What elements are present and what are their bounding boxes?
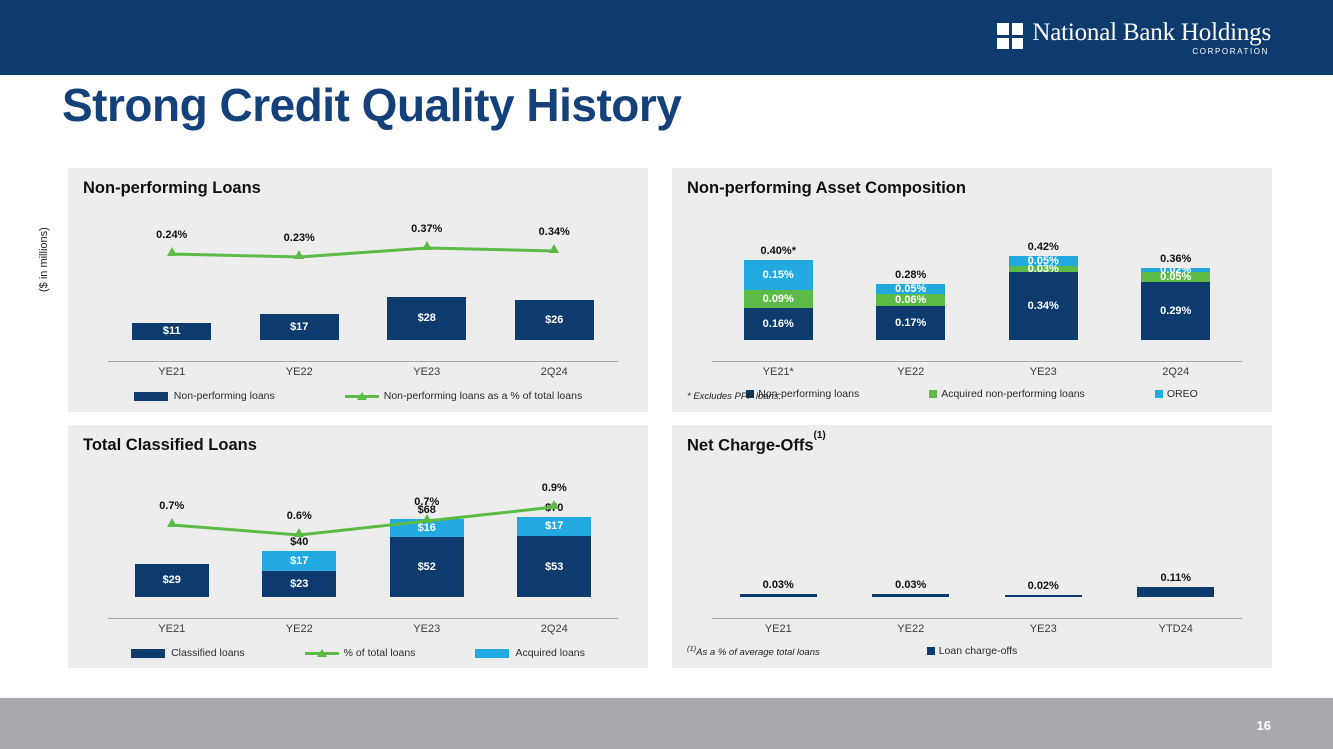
bar-group: 0.02%0.05%0.29%0.36% xyxy=(1110,210,1243,340)
category-labels: YE21YE22YE232Q24 xyxy=(108,619,618,641)
bar-segment: $26 xyxy=(515,300,594,340)
bar-segment: $23 xyxy=(262,571,336,597)
category-labels: YE21YE22YE232Q24 xyxy=(108,362,618,384)
bar-value-label: 0.15% xyxy=(763,269,794,281)
bar-group: $16$52$68 xyxy=(363,467,491,597)
bar-segment: 0.09% xyxy=(744,290,813,308)
panel-title: Net Charge-Offs(1) xyxy=(687,436,826,456)
panel-title: Non-performing Loans xyxy=(83,179,261,198)
footnote-text: As a % of average total loans xyxy=(696,647,820,658)
bar-segment xyxy=(1137,587,1214,597)
legend-label: % of total loans xyxy=(344,647,416,659)
chart-legend: Non-performing loansNon-performing loans… xyxy=(68,390,648,402)
legend-label: Classified loans xyxy=(171,647,245,659)
logo-name: National Bank Holdings xyxy=(1032,20,1271,46)
plot-area: 0.03%0.03%0.02%0.11% xyxy=(712,467,1242,619)
bar-group: $17$23$40 xyxy=(236,467,364,597)
bar-segment: $52 xyxy=(390,537,464,597)
category-label: YE23 xyxy=(977,366,1110,378)
bar-segment: $16 xyxy=(390,519,464,537)
category-label: YE21 xyxy=(108,366,236,378)
legend-label: Acquired loans xyxy=(515,647,584,659)
category-label: 2Q24 xyxy=(491,623,619,635)
page-title: Strong Credit Quality History xyxy=(62,78,681,132)
bar-value-label: $11 xyxy=(163,325,181,337)
bar-value-label: $53 xyxy=(545,561,563,573)
units-caption: ($ in millions) xyxy=(38,172,50,292)
legend-item: Classified loans xyxy=(131,647,245,659)
bar-segment: 0.34% xyxy=(1009,272,1078,340)
bar-segment: $28 xyxy=(387,297,466,340)
bar-group: 0.05%0.06%0.17%0.28% xyxy=(845,210,978,340)
category-label: 2Q24 xyxy=(491,366,619,378)
legend-item: OREO xyxy=(1155,388,1198,400)
bar-segment: $53 xyxy=(517,536,591,597)
bar-value-label: $29 xyxy=(163,574,181,586)
category-label: YTD24 xyxy=(1110,623,1243,635)
footnote-superscript: (1) xyxy=(687,644,696,653)
bar-group: 0.03% xyxy=(712,467,845,597)
four-square-grid-logo-icon xyxy=(997,23,1023,49)
bar-value-label: 0.16% xyxy=(763,318,794,330)
legend-square-swatch xyxy=(1155,390,1163,398)
bar-group: 0.11% xyxy=(1110,467,1243,597)
legend-bar-swatch xyxy=(134,392,168,401)
category-label: YE22 xyxy=(845,623,978,635)
bar-total-label: 0.36% xyxy=(1110,253,1243,265)
bar-value-label: 0.09% xyxy=(763,293,794,305)
legend-label: Loan charge-offs xyxy=(939,645,1018,657)
bar-value-label: $17 xyxy=(545,520,563,532)
bar-group: $17$53$70 xyxy=(491,467,619,597)
category-label: YE23 xyxy=(363,366,491,378)
legend-label: Acquired non-performing loans xyxy=(941,388,1085,400)
bar-total-label: 0.40%* xyxy=(712,245,845,257)
bar-value-label: $17 xyxy=(290,555,308,567)
legend-item: % of total loans xyxy=(305,647,416,659)
category-label: YE22 xyxy=(845,366,978,378)
bar-group: 0.05%0.03%0.34%0.42% xyxy=(977,210,1110,340)
page-number: 16 xyxy=(1257,718,1271,733)
legend-item: Non-performing loans as a % of total loa… xyxy=(345,390,582,402)
bar-group: $28 xyxy=(363,210,491,340)
panel-title-superscript: (1) xyxy=(814,430,826,441)
bar-value-label: 0.34% xyxy=(1028,300,1059,312)
panel-footnote: * Excludes PPP loans. xyxy=(687,391,781,402)
bar-segment: $17 xyxy=(517,517,591,537)
bar-group: 0.15%0.09%0.16%0.40%* xyxy=(712,210,845,340)
bar-value-label: $17 xyxy=(290,321,308,333)
legend-item: Non-performing loans xyxy=(134,390,275,402)
panel-title: Non-performing Asset Composition xyxy=(687,179,966,198)
bar-total-label: 0.42% xyxy=(977,241,1110,253)
bar-segment: 0.29% xyxy=(1141,282,1210,340)
panel-title: Total Classified Loans xyxy=(83,436,257,455)
bar-value-label: $28 xyxy=(418,312,436,324)
category-labels: YE21*YE22YE232Q24 xyxy=(712,362,1242,384)
chart-total-classified-loans: $29$17$23$40$16$52$68$17$53$70 0.7%0.6%0… xyxy=(68,467,648,668)
chart-npa-composition: 0.15%0.09%0.16%0.40%*0.05%0.06%0.17%0.28… xyxy=(672,210,1272,412)
bar-segment: 0.16% xyxy=(744,308,813,340)
bar-segment xyxy=(1005,595,1082,597)
bar-total-label: 0.03% xyxy=(845,579,978,591)
bar-segment: 0.05% xyxy=(876,284,945,294)
panel-non-performing-loans: Non-performing Loans $11$17$28$26 0.24%0… xyxy=(68,168,648,412)
bar-segment: 0.17% xyxy=(876,306,945,340)
bar-group: $26 xyxy=(491,210,619,340)
category-label: YE23 xyxy=(363,623,491,635)
bar-segment: $11 xyxy=(132,323,211,340)
legend-item: Loan charge-offs xyxy=(927,645,1018,657)
legend-item: Acquired loans xyxy=(475,647,584,659)
category-label: YE21* xyxy=(712,366,845,378)
panel-npa-composition: Non-performing Asset Composition 0.15%0.… xyxy=(672,168,1272,412)
bar-group: $29 xyxy=(108,467,236,597)
plot-area: $29$17$23$40$16$52$68$17$53$70 xyxy=(108,467,618,619)
bar-total-label: $68 xyxy=(363,504,491,516)
bar-total-label: 0.28% xyxy=(845,269,978,281)
legend-square-swatch xyxy=(929,390,937,398)
bar-group: $11 xyxy=(108,210,236,340)
bar-value-label: $52 xyxy=(418,561,436,573)
plot-area: 0.15%0.09%0.16%0.40%*0.05%0.06%0.17%0.28… xyxy=(712,210,1242,362)
category-label: YE21 xyxy=(712,623,845,635)
panel-footnote: (1)As a % of average total loans xyxy=(687,644,820,658)
bar-value-label: $16 xyxy=(418,522,436,534)
bar-segment: 0.15% xyxy=(744,260,813,290)
panel-title-text: Net Charge-Offs xyxy=(687,437,814,455)
category-label: 2Q24 xyxy=(1110,366,1243,378)
logo-subtitle: CORPORATION xyxy=(1192,47,1269,56)
legend-line-swatch xyxy=(305,649,339,658)
panel-net-charge-offs: Net Charge-Offs(1) 0.03%0.03%0.02%0.11% … xyxy=(672,425,1272,668)
category-labels: YE21YE22YE23YTD24 xyxy=(712,619,1242,641)
legend-label: Non-performing loans as a % of total loa… xyxy=(384,390,582,402)
bar-total-label: 0.11% xyxy=(1110,572,1243,584)
bar-group: $17 xyxy=(236,210,364,340)
plot-area: $11$17$28$26 xyxy=(108,210,618,362)
bar-group: 0.02% xyxy=(977,467,1110,597)
bar-total-label: 0.02% xyxy=(977,580,1110,592)
bar-segment: 0.06% xyxy=(876,294,945,306)
company-logo: National Bank Holdings CORPORATION xyxy=(997,20,1271,56)
panel-total-classified-loans: Total Classified Loans $29$17$23$40$16$5… xyxy=(68,425,648,668)
bar-segment: $29 xyxy=(135,564,209,597)
legend-bar-swatch xyxy=(131,649,165,658)
bar-value-label: 0.17% xyxy=(895,317,926,329)
bar-segment xyxy=(740,594,817,597)
footer-band xyxy=(0,698,1333,749)
legend-line-swatch xyxy=(345,392,379,401)
legend-label: OREO xyxy=(1167,388,1198,400)
bar-value-label: $23 xyxy=(290,578,308,590)
bar-segment xyxy=(872,594,949,597)
category-label: YE22 xyxy=(236,623,364,635)
bar-value-label: 0.29% xyxy=(1160,305,1191,317)
category-label: YE21 xyxy=(108,623,236,635)
category-label: YE22 xyxy=(236,366,364,378)
bar-segment: 0.05% xyxy=(1141,272,1210,282)
legend-bar-swatch xyxy=(475,649,509,658)
bar-segment: $17 xyxy=(262,551,336,571)
bar-group: 0.03% xyxy=(845,467,978,597)
bar-value-label: $26 xyxy=(545,314,563,326)
chart-legend: Classified loans% of total loansAcquired… xyxy=(68,647,648,659)
bar-total-label: $70 xyxy=(491,502,619,514)
legend-label: Non-performing loans xyxy=(174,390,275,402)
legend-square-swatch xyxy=(927,647,935,655)
bar-total-label: $40 xyxy=(236,536,364,548)
chart-net-charge-offs: 0.03%0.03%0.02%0.11% YE21YE22YE23YTD24 L… xyxy=(672,467,1272,668)
chart-non-performing-loans: $11$17$28$26 0.24%0.23%0.37%0.34% YE21YE… xyxy=(68,210,648,412)
bar-segment: $17 xyxy=(260,314,339,340)
bar-total-label: 0.03% xyxy=(712,579,845,591)
legend-item: Acquired non-performing loans xyxy=(929,388,1085,400)
category-label: YE23 xyxy=(977,623,1110,635)
